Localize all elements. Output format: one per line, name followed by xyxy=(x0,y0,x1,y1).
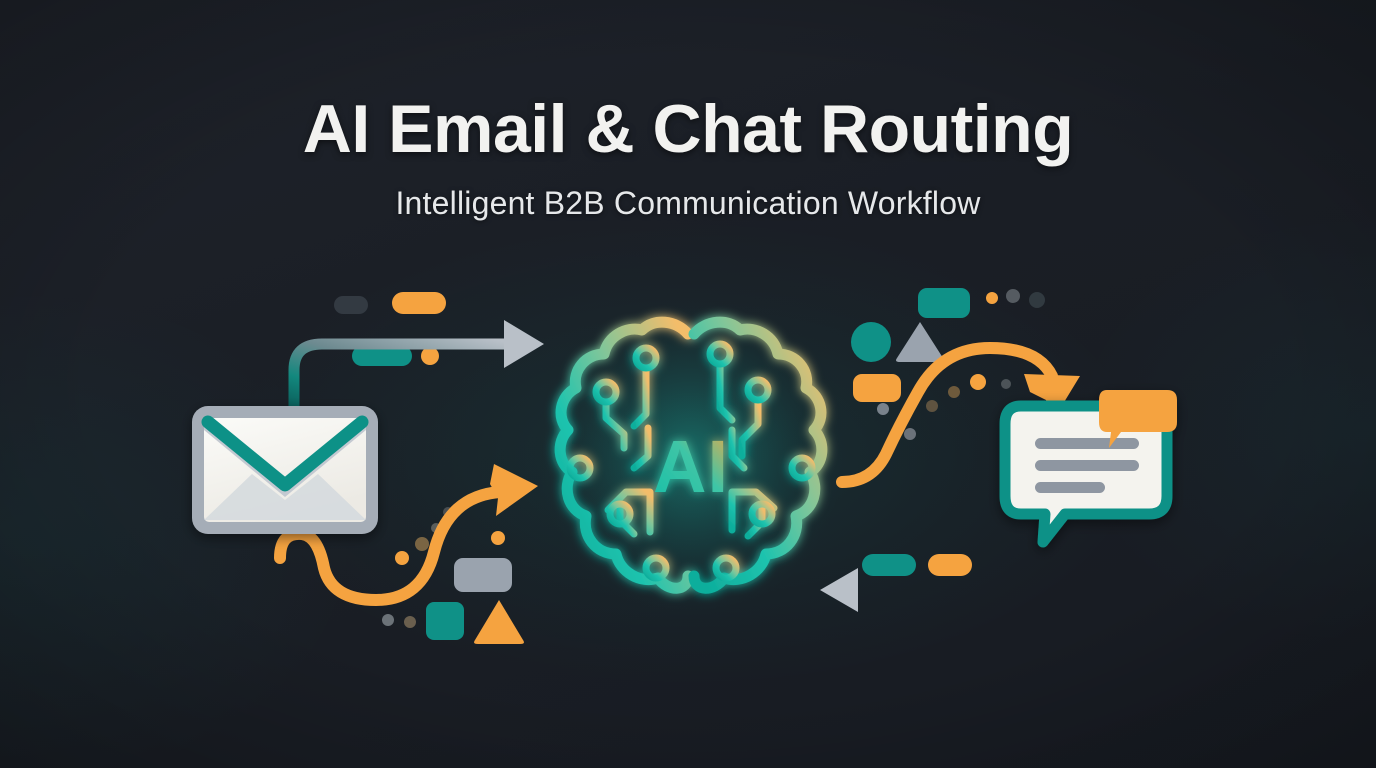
connector-email-to-ai-top xyxy=(288,300,556,410)
chat-line xyxy=(1035,482,1105,493)
dot-gray-icon xyxy=(904,428,916,440)
illustration-canvas: AI Email & Chat Routing Intelligent B2B … xyxy=(0,0,1376,768)
page-title: AI Email & Chat Routing xyxy=(0,0,1376,163)
dot-gray-dark-icon xyxy=(1029,292,1045,308)
node-ai-core[interactable]: AI xyxy=(538,296,844,616)
connector-line xyxy=(294,344,510,408)
chat-line xyxy=(1035,460,1139,471)
ai-label: AI xyxy=(653,425,729,508)
dot-orange-icon xyxy=(986,292,998,304)
page-subtitle: Intelligent B2B Communication Workflow xyxy=(0,163,1376,222)
header: AI Email & Chat Routing Intelligent B2B … xyxy=(0,0,1376,222)
arrowhead-icon xyxy=(490,464,538,516)
node-chat[interactable] xyxy=(1003,398,1183,550)
rect-teal-icon xyxy=(918,288,970,318)
chat-line xyxy=(1035,438,1139,449)
dot-gray-icon xyxy=(1006,289,1020,303)
node-email[interactable] xyxy=(190,404,380,536)
